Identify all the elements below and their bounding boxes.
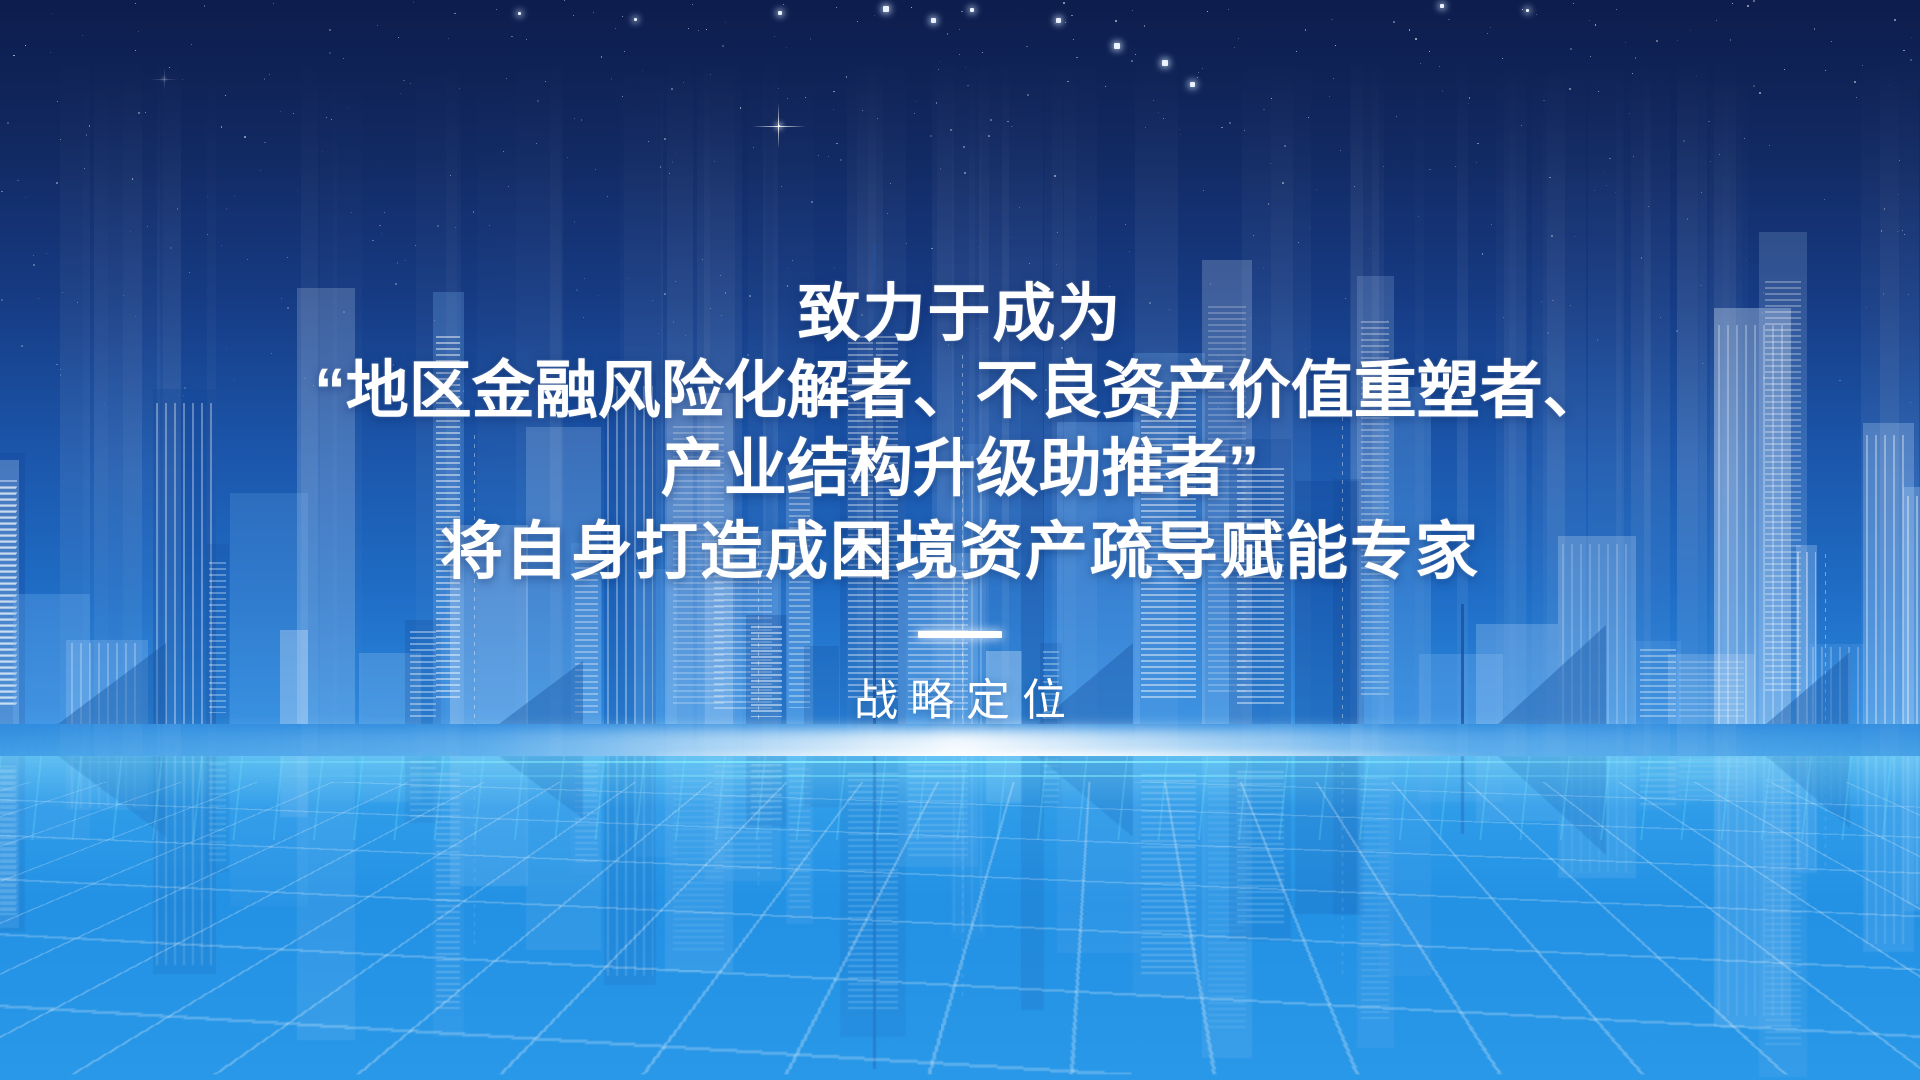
headline-line-4: 将自身打造成困境资产疏导赋能专家 bbox=[0, 519, 1920, 586]
slide-subtitle: 战略定位 bbox=[842, 664, 1078, 728]
headline-line-3: 产业结构升级助推者” bbox=[0, 436, 1920, 503]
headline-line-1: 致力于成为 bbox=[0, 281, 1920, 348]
headline-line-2: “地区金融风险化解者、不良资产价值重塑者、 bbox=[0, 358, 1920, 425]
title-divider bbox=[918, 631, 1002, 638]
presentation-slide: 致力于成为 “地区金融风险化解者、不良资产价值重塑者、 产业结构升级助推者” 将… bbox=[0, 0, 1920, 1080]
slide-content: 致力于成为 “地区金融风险化解者、不良资产价值重塑者、 产业结构升级助推者” 将… bbox=[0, 0, 1920, 1080]
